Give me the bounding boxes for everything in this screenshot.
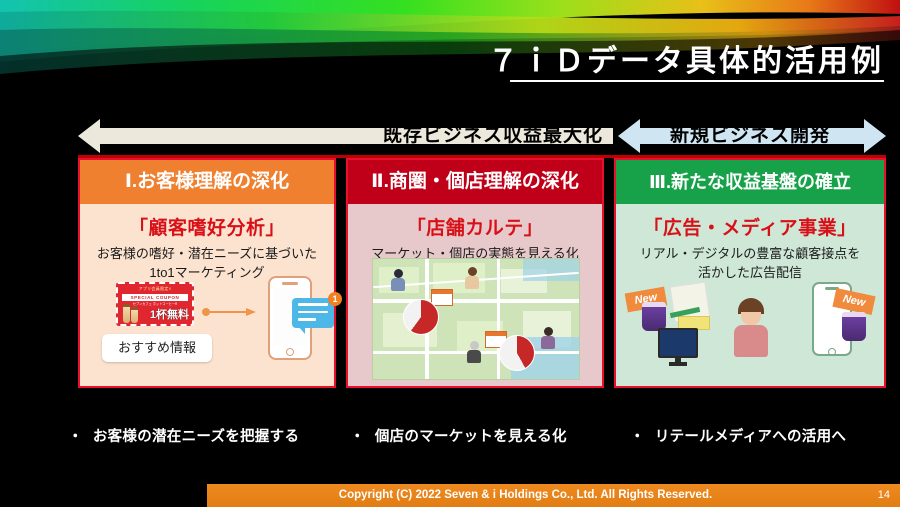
panel-group: Ⅰ.お客様理解の深化 「顧客嗜好分析」 お客様の嗜好・潜在ニーズに基づいた 1t… [78, 158, 886, 388]
store-icon [431, 289, 453, 306]
banner-existing-business: 既存ビジネス収益最大化 [78, 117, 613, 155]
panel-3-body-line1: リアル・デジタルの豊富な顧客接点を [622, 245, 878, 264]
pie-chart-icon [499, 335, 535, 371]
bullet-text-1: お客様の潜在ニーズを把握する [93, 429, 299, 445]
map-graphic [372, 258, 580, 380]
person-icon [541, 327, 555, 349]
person-icon [467, 341, 481, 363]
copyright-text: Copyright (C) 2022 Seven & i Holdings Co… [207, 484, 844, 507]
panel-2-header: Ⅱ.商圏・個店理解の深化 [348, 160, 602, 204]
panel-3-header: Ⅲ.新たな収益基盤の確立 [616, 160, 884, 204]
panel-1-illustration: アプリ会員限定!! SPECIAL COUPON セブンカフェ ホットコーヒーR… [80, 276, 334, 382]
bullet-dot: ・ [630, 425, 645, 446]
bullet-item-3: ・リテールメディアへの活用へ [630, 425, 846, 446]
notification-badge: 1 [328, 292, 342, 306]
coupon-graphic: アプリ会員限定!! SPECIAL COUPON セブンカフェ ホットコーヒーR… [116, 282, 194, 326]
person-icon [465, 267, 479, 289]
pie-chart-icon [403, 299, 439, 335]
bullet-item-1: ・お客様の潜在ニーズを把握する [68, 425, 299, 446]
banner-row: 既存ビジネス収益最大化 新規ビジネス開発 [0, 117, 900, 155]
ice-cream-cup-icon [842, 312, 866, 341]
bullet-dot: ・ [68, 425, 83, 446]
bullet-dot: ・ [350, 425, 365, 446]
banner-existing-business-label: 既存ビジネス収益最大化 [383, 117, 603, 155]
bullet-item-2: ・個店のマーケットを見える化 [350, 425, 567, 446]
panel-new-revenue-base[interactable]: Ⅲ.新たな収益基盤の確立 「広告・メディア事業」 リアル・デジタルの豊富な顧客接… [614, 158, 886, 388]
recommendation-pill: おすすめ情報 [102, 334, 212, 362]
person-icon [734, 298, 768, 357]
footer-bar: Copyright (C) 2022 Seven & i Holdings Co… [207, 484, 900, 507]
panel-1-header: Ⅰ.お客様理解の深化 [80, 160, 334, 204]
page-title: ７ｉＤデータ具体的活用例 [0, 36, 884, 85]
slide-canvas: ７ｉＤデータ具体的活用例 既存ビジネス収益最大化 新規ビジネス開発 Ⅰ.お客様理… [0, 0, 900, 507]
flow-arrow-icon [202, 304, 258, 312]
title-underline [510, 80, 884, 82]
ice-cream-cup-icon [642, 302, 666, 331]
panel-trade-area-understanding[interactable]: Ⅱ.商圏・個店理解の深化 「店舗カルテ」 マーケット・個店の実態を見える化 [346, 158, 604, 388]
bullet-text-3: リテールメディアへの活用へ [655, 429, 846, 445]
coupon-top-text: アプリ会員限定!! [118, 286, 192, 292]
coffee-cups-icon [123, 304, 139, 323]
person-icon [391, 269, 405, 291]
bullet-list: ・お客様の潜在ニーズを把握する ・個店のマーケットを見える化 ・リテールメディア… [60, 425, 900, 453]
monitor-icon [658, 328, 698, 358]
panel-2-subtitle: 「店舗カルテ」 [348, 213, 602, 240]
banner-new-business: 新規ビジネス開発 [618, 117, 886, 155]
coupon-main-text: 1杯無料 [150, 306, 189, 322]
page-number: 14 [878, 484, 890, 507]
coupon-mid-text: SPECIAL COUPON [122, 294, 188, 301]
chat-bubble-icon [292, 298, 334, 328]
panel-2-illustration [348, 276, 602, 382]
bullet-text-2: 個店のマーケットを見える化 [375, 429, 567, 445]
panel-1-body-line1: お客様の嗜好・潜在ニーズに基づいた [86, 245, 328, 264]
panel-3-subtitle: 「広告・メディア事業」 [616, 213, 884, 240]
panel-customer-understanding[interactable]: Ⅰ.お客様理解の深化 「顧客嗜好分析」 お客様の嗜好・潜在ニーズに基づいた 1t… [78, 158, 336, 388]
panel-3-illustration: New New [616, 276, 884, 382]
banner-new-business-label: 新規ビジネス開発 [670, 117, 830, 155]
panel-1-subtitle: 「顧客嗜好分析」 [80, 213, 334, 240]
